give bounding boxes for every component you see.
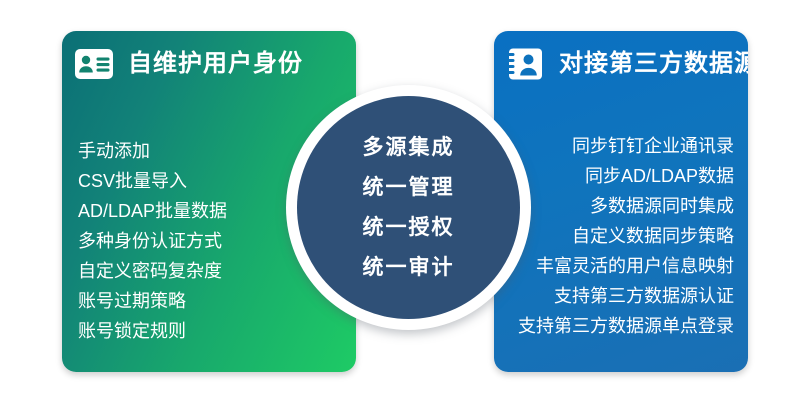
center-line: 统一审计 [363, 248, 455, 288]
list-item: 账号锁定规则 [78, 316, 227, 346]
id-card-icon [74, 47, 114, 81]
center-line: 统一授权 [363, 208, 455, 248]
list-item: 支持第三方数据源认证 [518, 281, 734, 311]
center-summary-circle: 多源集成 统一管理 统一授权 统一审计 [286, 85, 531, 330]
list-item: 账号过期策略 [78, 286, 227, 316]
center-line: 统一管理 [363, 168, 455, 208]
list-item: 多种身份认证方式 [78, 226, 227, 256]
list-item: 丰富灵活的用户信息映射 [518, 251, 734, 281]
list-item: CSV批量导入 [78, 166, 227, 196]
list-item: 同步AD/LDAP数据 [518, 161, 734, 191]
list-item: 自定义密码复杂度 [78, 256, 227, 286]
list-item: 同步钉钉企业通讯录 [518, 131, 734, 161]
infographic-canvas: 自维护用户身份 手动添加 CSV批量导入 AD/LDAP批量数据 多种身份认证方… [0, 0, 810, 410]
address-book-icon [505, 47, 545, 81]
list-item: 支持第三方数据源单点登录 [518, 311, 734, 341]
center-line: 多源集成 [363, 128, 455, 168]
list-item: 手动添加 [78, 136, 227, 166]
right-feature-list: 同步钉钉企业通讯录 同步AD/LDAP数据 多数据源同时集成 自定义数据同步策略… [518, 131, 734, 341]
list-item: 自定义数据同步策略 [518, 221, 734, 251]
list-item: 多数据源同时集成 [518, 191, 734, 221]
right-feature-panel: 对接第三方数据源 同步钉钉企业通讯录 同步AD/LDAP数据 多数据源同时集成 … [494, 31, 748, 372]
left-panel-title: 自维护用户身份 [128, 52, 303, 76]
right-panel-header: 对接第三方数据源 [505, 47, 748, 81]
left-feature-list: 手动添加 CSV批量导入 AD/LDAP批量数据 多种身份认证方式 自定义密码复… [78, 136, 227, 346]
left-panel-header: 自维护用户身份 [74, 47, 303, 81]
right-panel-title: 对接第三方数据源 [559, 52, 748, 76]
list-item: AD/LDAP批量数据 [78, 196, 227, 226]
center-circle-core: 多源集成 统一管理 统一授权 统一审计 [297, 96, 520, 319]
